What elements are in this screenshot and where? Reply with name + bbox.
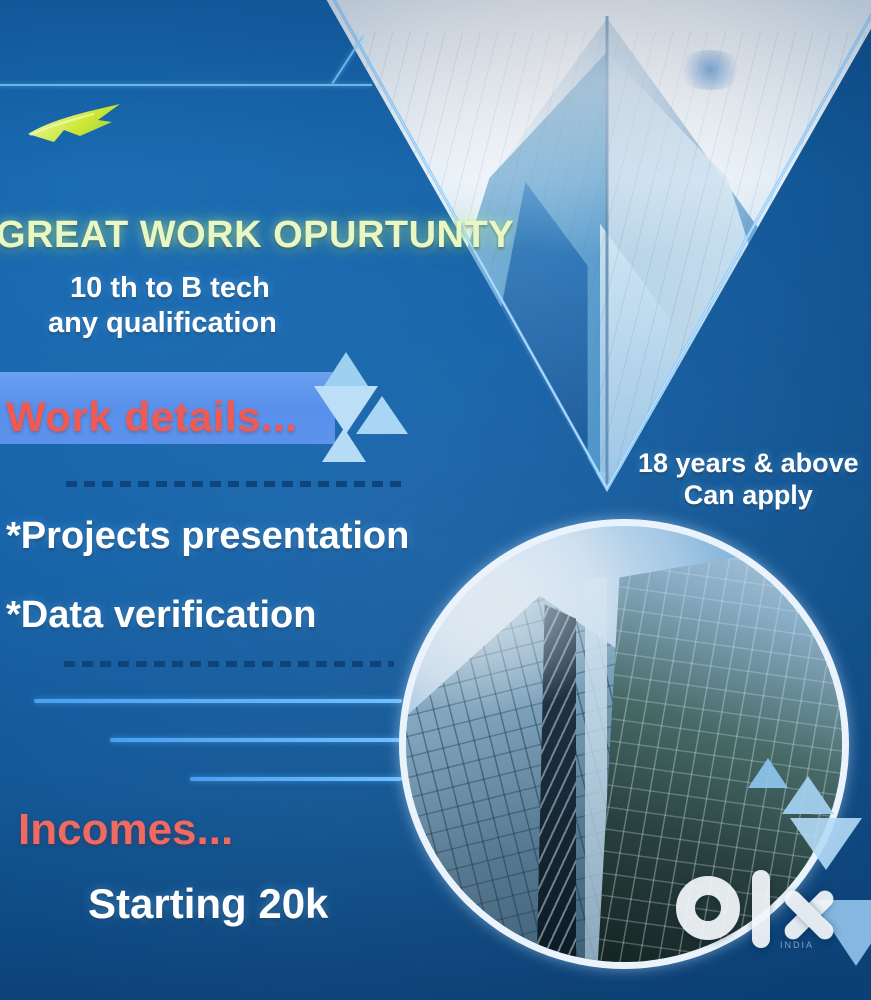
page-title: GREAT WORK OPURTUNTY — [0, 214, 514, 257]
triangle-up-icon-5 — [782, 776, 834, 814]
olx-letter-l — [752, 870, 770, 948]
triangle-up-icon-3 — [322, 428, 366, 462]
age-requirement-note: 18 years & above Can apply — [638, 448, 859, 512]
accent-line-1 — [34, 699, 402, 703]
income-label: Incomes... — [18, 805, 233, 855]
olx-letter-o — [676, 876, 740, 940]
work-item-1: *Projects presentation — [6, 515, 409, 558]
qualification-line-1: 10 th to B tech — [70, 272, 270, 305]
olx-letter-x — [778, 884, 840, 946]
divider-dashed-top — [66, 481, 404, 487]
age-note-line-1: 18 years & above — [638, 448, 859, 478]
age-note-line-2: Can apply — [638, 480, 859, 512]
accent-line-2 — [110, 738, 402, 742]
olx-logo: INDIA — [676, 866, 862, 952]
divider-dashed-bottom — [64, 661, 394, 667]
job-advertisement-poster: GREAT WORK OPURTUNTY 10 th to B tech any… — [0, 0, 871, 1000]
qualification-line-2: any qualification — [48, 307, 277, 340]
accent-line-3 — [190, 777, 402, 781]
triangle-down-icon-2 — [790, 818, 862, 870]
work-item-2: *Data verification — [6, 594, 316, 637]
top-accent-line — [0, 84, 372, 86]
income-value: Starting 20k — [88, 880, 328, 928]
bird-swoosh-logo — [24, 96, 134, 158]
olx-tagline: INDIA — [780, 940, 814, 950]
section-title-work-details: Work details... — [6, 393, 297, 441]
triangle-up-icon — [324, 352, 368, 386]
